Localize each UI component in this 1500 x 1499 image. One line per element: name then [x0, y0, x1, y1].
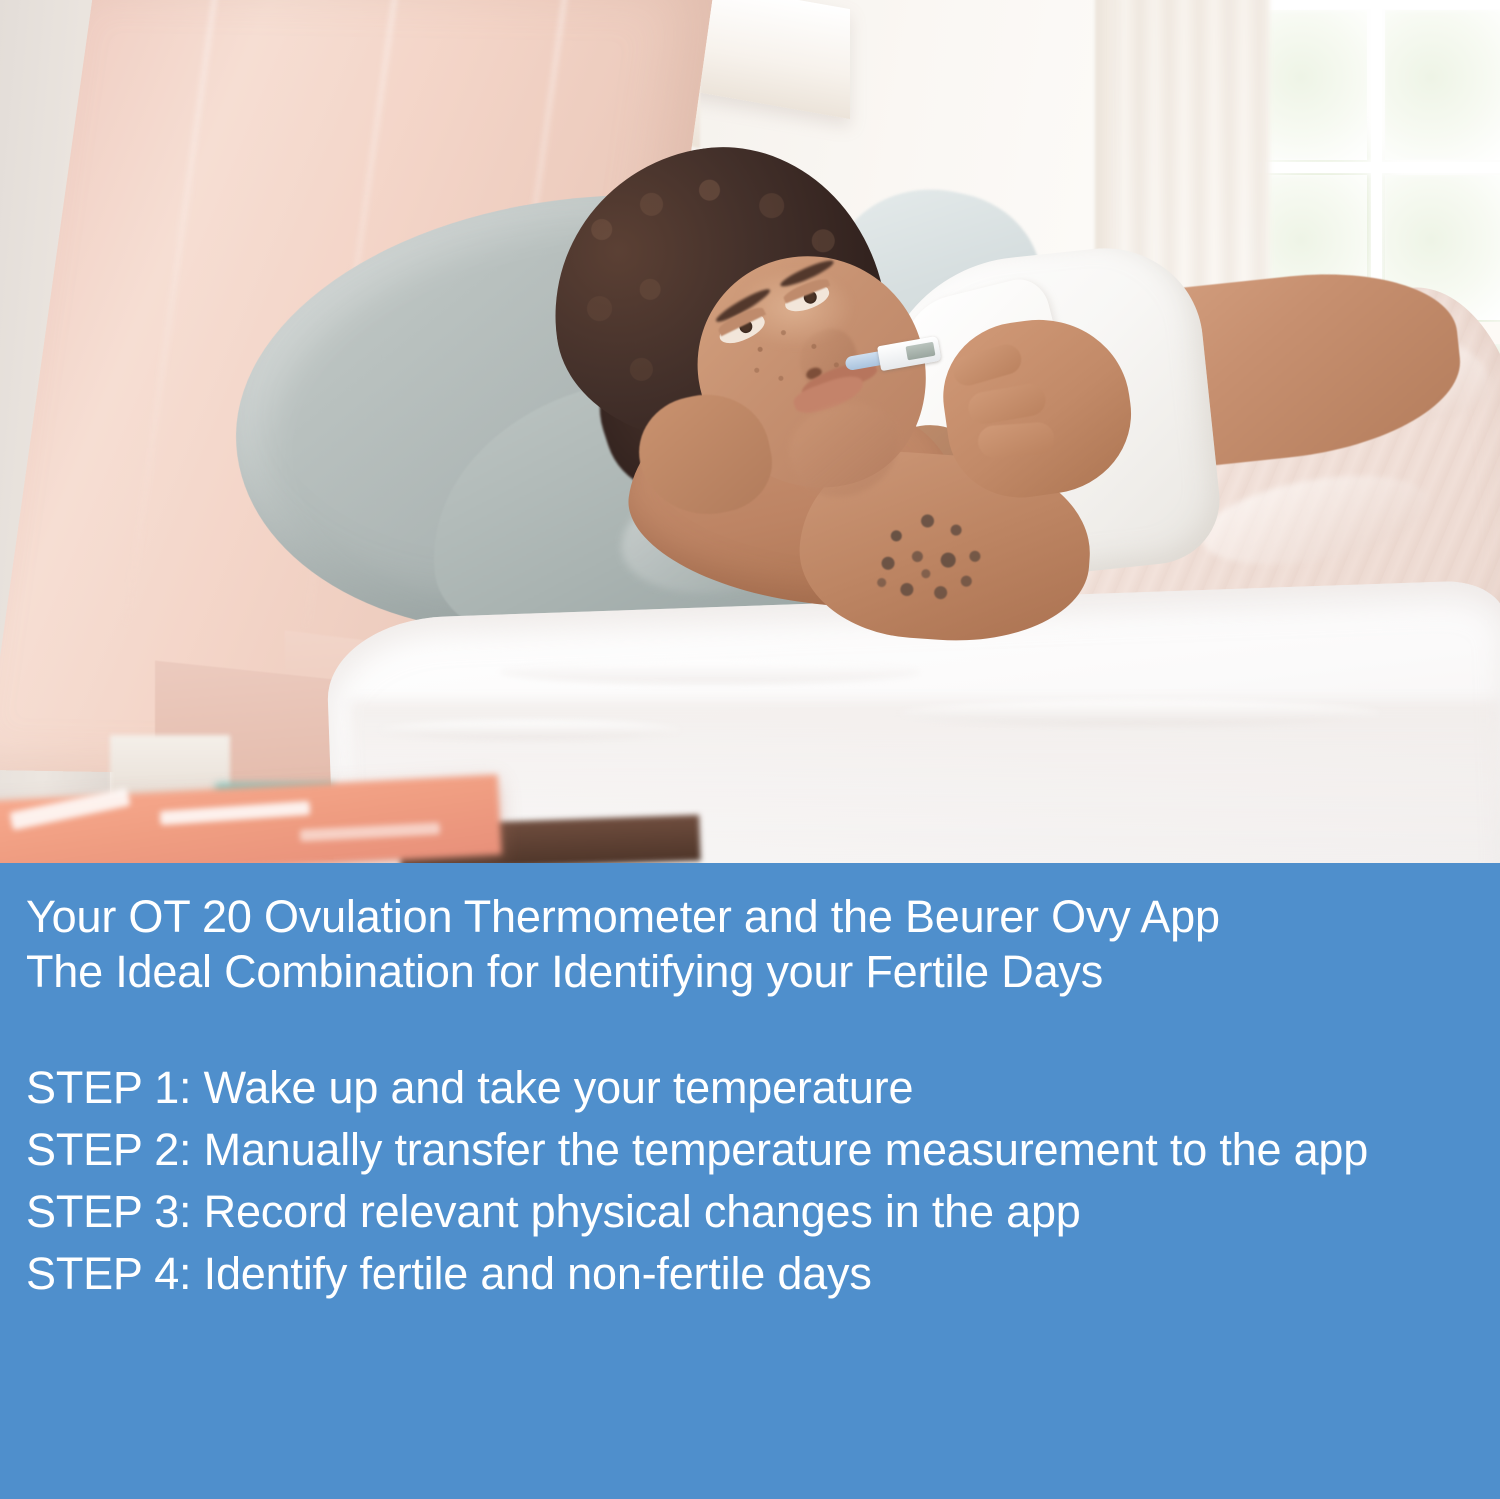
panel-title-line-1: Your OT 20 Ovulation Thermometer and the… — [26, 889, 1472, 944]
sheet-fold — [900, 700, 1380, 726]
window-frame — [1245, 0, 1500, 9]
hero-photo — [0, 0, 1500, 863]
window-mullion — [1249, 162, 1500, 173]
step-item-3: STEP 3: Record relevant physical changes… — [26, 1181, 1472, 1243]
step-item-4: STEP 4: Identify fertile and non-fertile… — [26, 1243, 1472, 1305]
title-steps-spacer — [26, 999, 1472, 1057]
info-panel: Your OT 20 Ovulation Thermometer and the… — [0, 863, 1500, 1499]
headboard-crease — [125, 0, 219, 622]
poster-root: Your OT 20 Ovulation Thermometer and the… — [0, 0, 1500, 1499]
window-pane — [1385, 10, 1500, 160]
finger — [977, 421, 1055, 458]
step-item-2: STEP 2: Manually transfer the temperatur… — [26, 1119, 1472, 1181]
window-pane — [1257, 10, 1367, 160]
sheet-fold — [380, 720, 680, 740]
sheet-fold — [500, 660, 920, 684]
panel-title-line-2: The Ideal Combination for Identifying yo… — [26, 944, 1472, 999]
step-item-1: STEP 1: Wake up and take your temperatur… — [26, 1057, 1472, 1119]
